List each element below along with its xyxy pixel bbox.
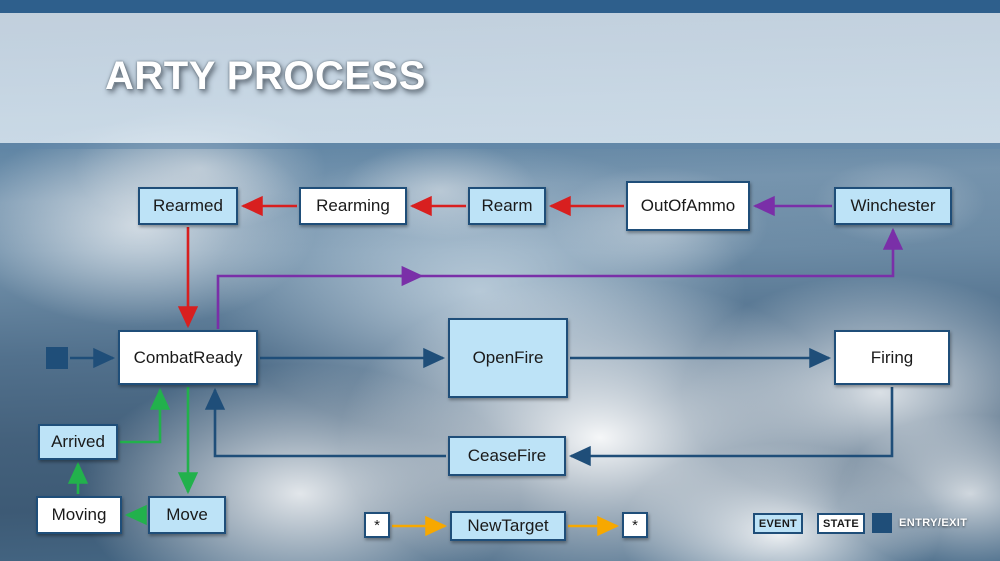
node-outofammo[interactable]: OutOfAmmo — [626, 181, 750, 231]
node-star-right[interactable]: * — [622, 512, 648, 538]
header-underline — [0, 143, 1000, 149]
node-rearmed[interactable]: Rearmed — [138, 187, 238, 225]
node-label: Firing — [871, 348, 914, 368]
legend-event-label: EVENT — [759, 518, 797, 530]
node-label: Rearmed — [153, 196, 223, 216]
node-move[interactable]: Move — [148, 496, 226, 534]
legend-entry-exit-swatch — [872, 513, 892, 533]
node-rearming[interactable]: Rearming — [299, 187, 407, 225]
node-label: Winchester — [850, 196, 935, 216]
node-firing[interactable]: Firing — [834, 330, 950, 385]
node-label: * — [374, 517, 380, 534]
node-moving[interactable]: Moving — [36, 496, 122, 534]
node-label: Rearming — [316, 196, 390, 216]
node-combatready[interactable]: CombatReady — [118, 330, 258, 385]
node-label: Move — [166, 505, 208, 525]
node-label: Arrived — [51, 432, 105, 452]
entry-point-marker — [46, 347, 68, 369]
node-arrived[interactable]: Arrived — [38, 424, 118, 460]
node-openfire[interactable]: OpenFire — [448, 318, 568, 398]
slide-canvas: ARTY PROCESS — [0, 0, 1000, 561]
node-label: CombatReady — [134, 348, 243, 368]
node-label: OpenFire — [473, 348, 544, 368]
node-label: Moving — [52, 505, 107, 525]
page-title: ARTY PROCESS — [105, 54, 426, 99]
node-newtarget[interactable]: NewTarget — [450, 511, 566, 541]
top-accent-strip — [0, 0, 1000, 13]
legend-state-swatch: STATE — [817, 513, 865, 534]
node-label: NewTarget — [467, 516, 548, 536]
node-star-left[interactable]: * — [364, 512, 390, 538]
node-label: OutOfAmmo — [641, 196, 735, 216]
node-label: CeaseFire — [468, 446, 546, 466]
legend-state-label: STATE — [823, 518, 859, 530]
legend-event-swatch: EVENT — [753, 513, 803, 534]
node-rearm[interactable]: Rearm — [468, 187, 546, 225]
node-label: * — [632, 517, 638, 534]
legend-entry-exit-label: ENTRY/EXIT — [899, 517, 967, 529]
node-winchester[interactable]: Winchester — [834, 187, 952, 225]
node-label: Rearm — [481, 196, 532, 216]
node-ceasefire[interactable]: CeaseFire — [448, 436, 566, 476]
